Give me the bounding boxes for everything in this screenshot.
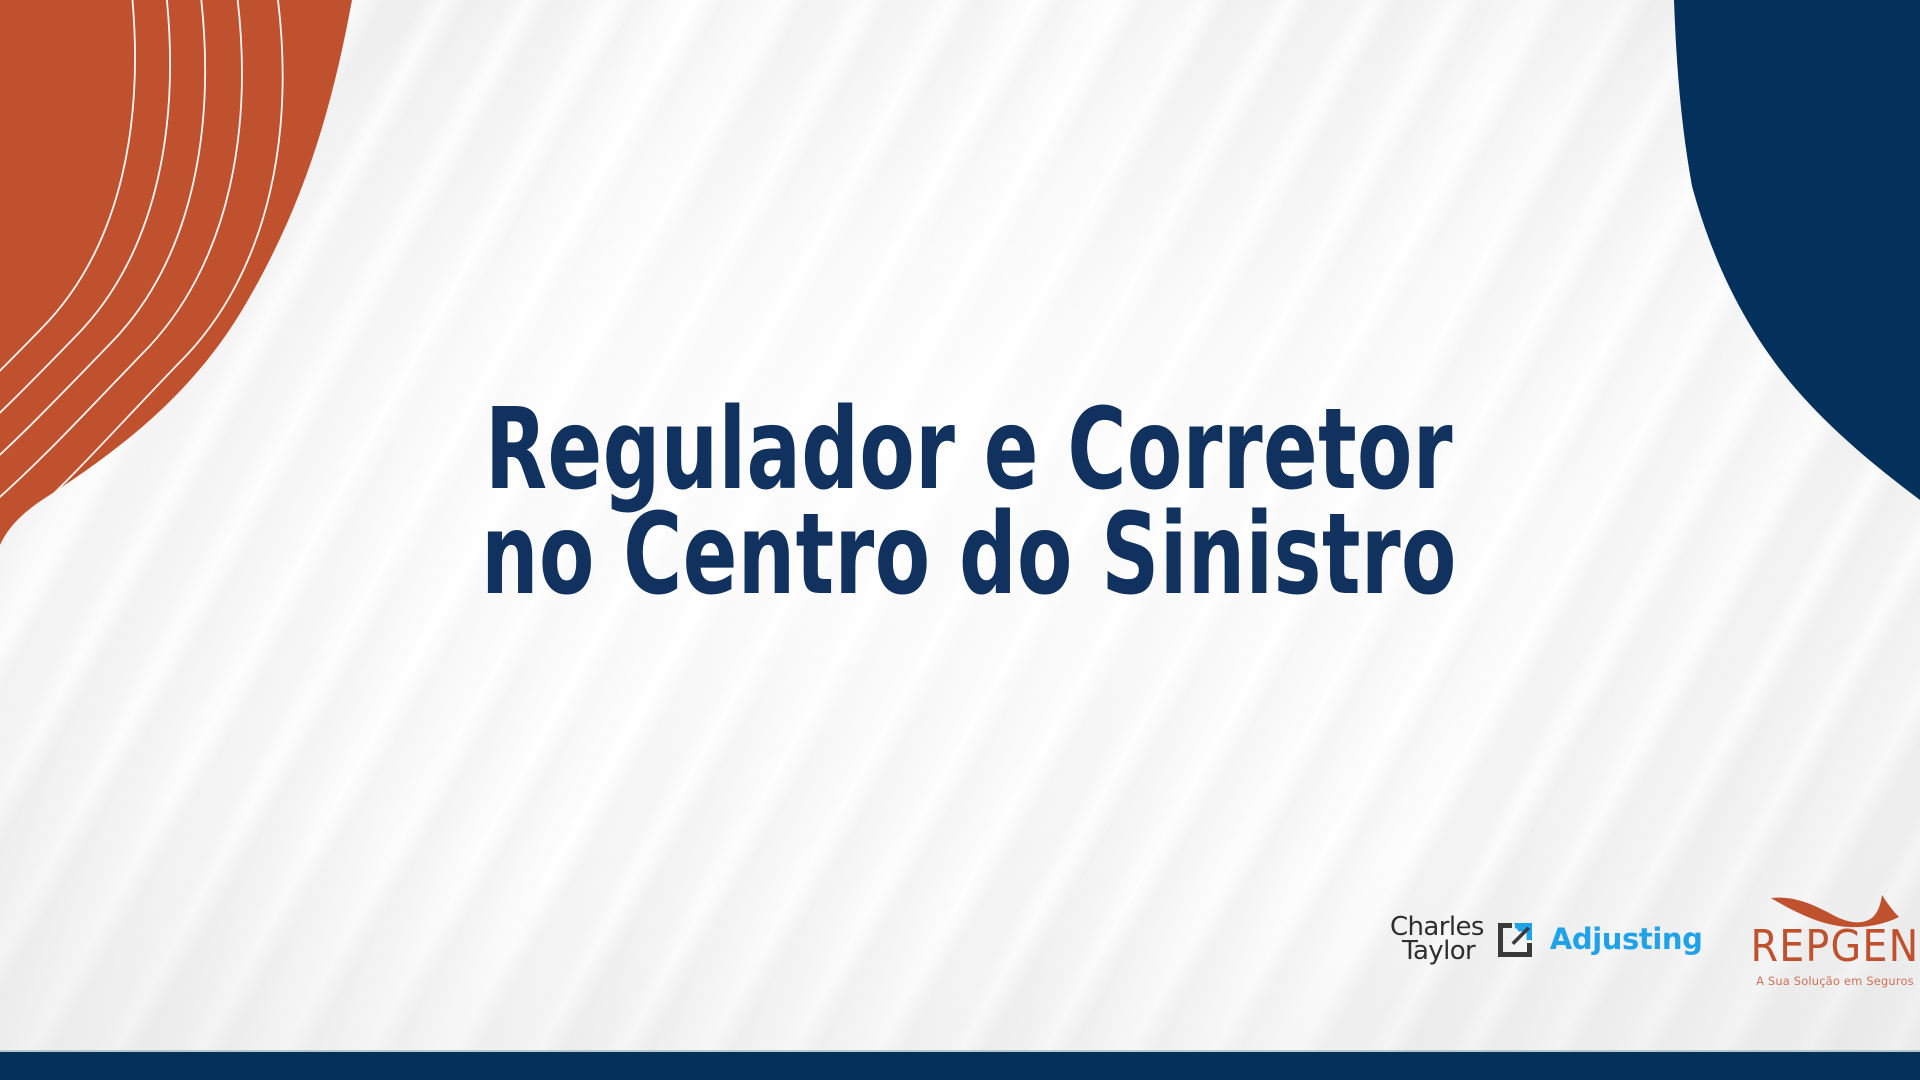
logo-bar: Charles Taylor Adjusting REPGEN A Sua So…: [1390, 893, 1919, 985]
presentation-slide: Regulador e Corretor no Centro do Sinist…: [0, 0, 1920, 1080]
page-title: Regulador e Corretor no Centro do Sinist…: [0, 398, 1920, 609]
charles-taylor-wordmark-line-2: Taylor: [1390, 939, 1484, 963]
title-line-1: Regulador e Corretor: [208, 398, 1730, 503]
charles-taylor-wordmark: Charles Taylor: [1390, 915, 1484, 964]
repgen-tagline: A Sua Solução em Seguros: [1756, 974, 1914, 988]
repgen-logo: REPGEN A Sua Solução em Seguros: [1751, 891, 1920, 988]
adjusting-label: Adjusting: [1550, 922, 1703, 956]
navy-footer-bar: [0, 1052, 1920, 1080]
square-arrow-icon: [1494, 917, 1538, 961]
title-line-2: no Centro do Sinistro: [208, 503, 1730, 608]
repgen-wordmark: REPGEN: [1751, 925, 1920, 969]
